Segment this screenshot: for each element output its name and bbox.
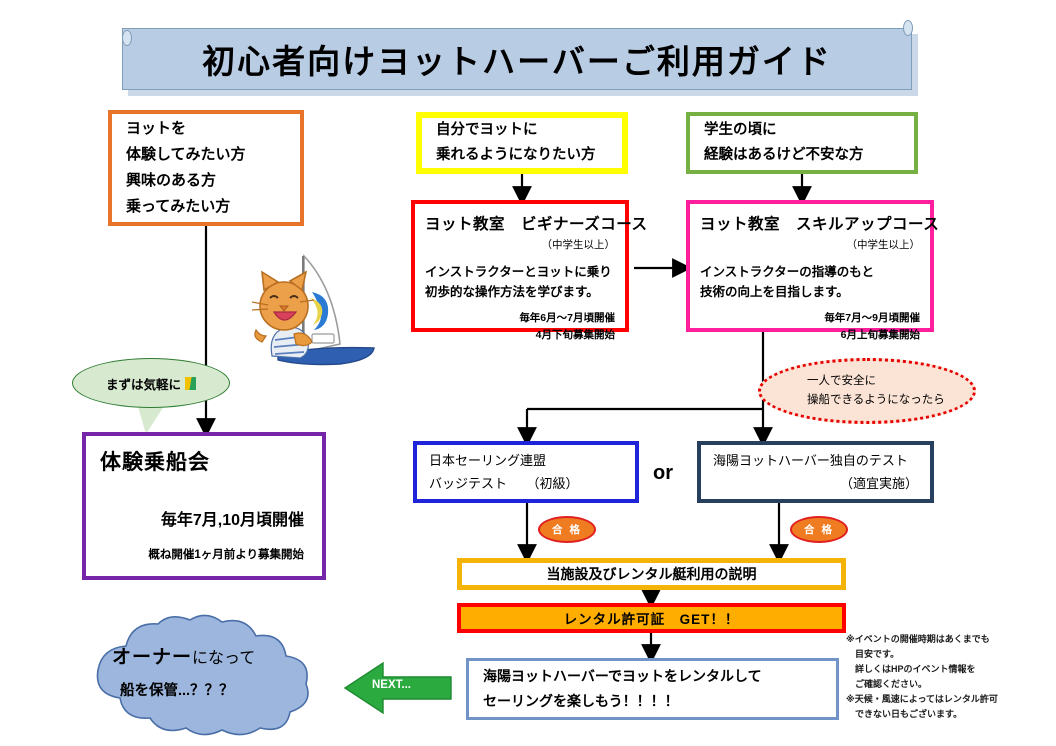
skillup-course-title: ヨット教室 スキルアップコース — [700, 212, 920, 234]
self-sail-line-2: 乗れるようになりたい方 — [436, 143, 622, 168]
interest-line-4: 乗ってみたい方 — [126, 194, 300, 220]
footnotes-block: ※イベントの開催時期はあくまでも 目安です。 詳しくはHPのイベント情報を ご確… — [846, 632, 1052, 722]
beginners-course-body-1: インストラクターとヨットに乗り — [425, 262, 615, 282]
safe-solo-sailing-callout: 一人で安全に 操船できるようになったら — [758, 358, 976, 424]
footnote-2: 目安です。 — [846, 647, 1052, 662]
skillup-course-body-1: インストラクターの指導のもと — [700, 262, 920, 282]
banner-curl-right-icon — [903, 20, 913, 36]
beginners-course-eligibility: （中学生以上） — [425, 237, 615, 252]
self-sail-entry-box: 自分でヨットに 乗れるようになりたい方 — [416, 112, 628, 174]
owner-cloud-text: オーナーになって 船を保管...？？？ — [112, 642, 312, 700]
jsaf-badge-test-box: 日本セーリング連盟 バッジテスト （初級） — [413, 441, 639, 503]
page-title-banner: 初心者向けヨットハーバーご利用ガイド — [122, 28, 912, 90]
footnote-3: 詳しくはHPのイベント情報を — [846, 662, 1052, 677]
student-line-1: 学生の頃に — [704, 118, 914, 143]
self-sail-line-1: 自分でヨットに — [436, 118, 622, 143]
trial-sailing-box: 体験乗船会 毎年7月,10月頃開催 概ね開催1ヶ月前より募集開始 — [82, 432, 326, 580]
cat-sailing-mascot-illustration — [248, 248, 380, 366]
owner-cloud-line-2: 船を保管...？？？ — [112, 679, 312, 700]
footnote-1: ※イベントの開催時期はあくまでも — [846, 632, 1052, 647]
harbor-own-test-box: 海陽ヨットハーバー独自のテスト （適宜実施） — [697, 441, 934, 503]
beginners-course-signup: 4月下旬募集開始 — [425, 327, 615, 344]
beginners-course-title: ヨット教室 ビギナーズコース — [425, 212, 615, 234]
interest-line-3: 興味のある方 — [126, 168, 300, 194]
interest-box: ヨットを 体験してみたい方 興味のある方 乗ってみたい方 — [108, 110, 304, 226]
owner-dream-cloud: オーナーになって 船を保管...？？？ — [74, 612, 324, 740]
rental-permit-label: レンタル許可証 GET！！ — [564, 608, 740, 628]
own-test-line-1: 海陽ヨットハーバー独自のテスト — [713, 449, 918, 472]
trial-title: 体験乗船会 — [100, 446, 308, 476]
beginners-course-period: 毎年6月～7月頃開催 — [425, 310, 615, 327]
trial-schedule: 毎年7月,10月頃開催 — [100, 506, 308, 530]
interest-line-1: ヨットを — [126, 116, 300, 142]
beginners-course-body-2: 初歩的な操作方法を学びます。 — [425, 282, 615, 302]
beginners-course-box: ヨット教室 ビギナーズコース （中学生以上） インストラクターとヨットに乗り 初… — [411, 200, 629, 332]
next-arrow-label: NEXT... — [372, 679, 411, 691]
pass-badge-right: 合 格 — [790, 516, 848, 543]
student-line-2: 経験はあるけど不安な方 — [704, 143, 914, 168]
own-test-line-2: （適宜実施） — [713, 472, 918, 495]
skillup-course-box: ヨット教室 スキルアップコース （中学生以上） インストラクターの指導のもと 技… — [686, 200, 934, 332]
or-separator-label: or — [653, 462, 673, 485]
page-title: 初心者向けヨットハーバーご利用ガイド — [202, 35, 832, 83]
enjoy-line-1: 海陽ヨットハーバーでヨットをレンタルして — [483, 664, 836, 689]
beginner-mark-icon — [185, 377, 196, 390]
skillup-course-signup: 6月上旬募集開始 — [700, 327, 920, 344]
owner-cloud-strong: オーナー — [112, 647, 192, 668]
pass-badge-left: 合 格 — [538, 516, 596, 543]
pass-badge-right-label: 合 格 — [804, 522, 834, 537]
footnote-5: ※天候・風速によってはレンタル許可 — [846, 692, 1052, 707]
jsaf-line-1: 日本セーリング連盟 — [429, 449, 635, 472]
casual-bubble-label: まずは気軽に — [106, 374, 181, 393]
skillup-course-period: 毎年7月～9月頃開催 — [700, 310, 920, 327]
enjoy-line-2: セーリングを楽しもう！！！！ — [483, 689, 836, 714]
owner-cloud-rest: になって — [192, 650, 255, 667]
student-experience-entry-box: 学生の頃に 経験はあるけど不安な方 — [686, 112, 918, 174]
safe-callout-line-1: 一人で安全に — [807, 372, 973, 391]
casual-bubble: まずは気軽に — [72, 358, 230, 408]
footnote-4: ご確認ください。 — [846, 677, 1052, 692]
jsaf-line-2: バッジテスト （初級） — [429, 472, 635, 495]
guide-diagram-canvas: 初心者向けヨットハーバーご利用ガイド ヨットを 体験してみたい方 興味のある方 … — [0, 0, 1056, 746]
facility-explanation-label: 当施設及びレンタル艇利用の説明 — [547, 564, 757, 584]
rental-permit-box: レンタル許可証 GET！！ — [457, 603, 846, 633]
facility-explanation-box: 当施設及びレンタル艇利用の説明 — [457, 558, 846, 590]
trial-application-note: 概ね開催1ヶ月前より募集開始 — [100, 546, 308, 562]
safe-callout-line-2: 操船できるようになったら — [807, 391, 973, 410]
skillup-course-eligibility: （中学生以上） — [700, 237, 920, 252]
interest-line-2: 体験してみたい方 — [126, 142, 300, 168]
enjoy-sailing-box: 海陽ヨットハーバーでヨットをレンタルして セーリングを楽しもう！！！！ — [466, 658, 839, 720]
owner-cloud-line-1: オーナーになって — [112, 642, 312, 669]
skillup-course-body-2: 技術の向上を目指します。 — [700, 282, 920, 302]
pass-badge-left-label: 合 格 — [552, 522, 582, 537]
banner-curl-left-icon — [122, 30, 132, 46]
footnote-6: できない日もございます。 — [846, 707, 1052, 722]
